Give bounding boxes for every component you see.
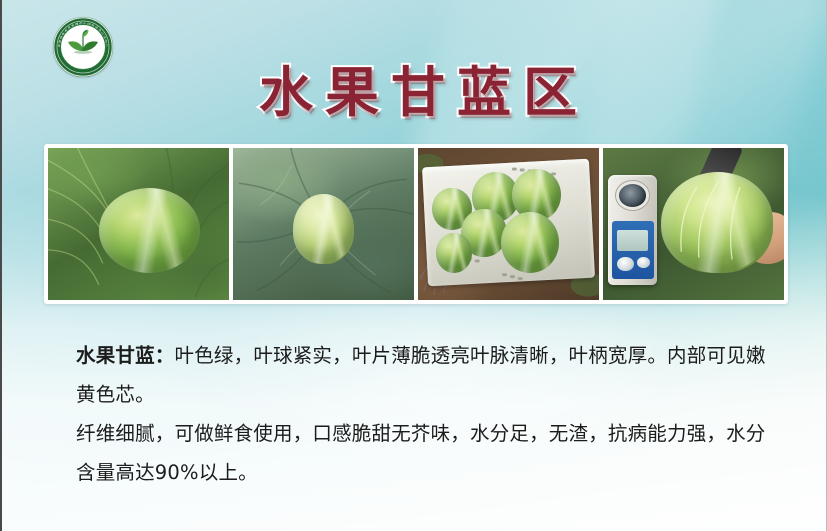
paragraph-1-text: 叶色绿，叶球紧实，叶片薄脆透亮叶脉清晰，叶柄宽厚。内部可见嫩黄色芯。 [76, 344, 766, 406]
sprout-icon [62, 24, 104, 66]
photo-cabbage-open-leaves: 展开外叶的水果甘蓝植株 [233, 148, 414, 300]
paragraph-1: 水果甘蓝：叶色绿，叶球紧实，叶片薄脆透亮叶脉清晰，叶柄宽厚。内部可见嫩黄色芯。 [76, 336, 766, 414]
certification-seal-logo: 中国绿色食品发展中心绿色食品认证中心 中国·绿色食品 [53, 17, 113, 77]
photo-brix-measurement: 手持糖度计测量水果甘蓝 [603, 148, 784, 300]
meter-start-button[interactable] [617, 257, 633, 271]
photo-gallery: 田间生长的水果甘蓝叶球特写 [44, 144, 788, 304]
photo-cabbage-in-field: 田间生长的水果甘蓝叶球特写 [48, 148, 229, 300]
meter-display [617, 230, 648, 251]
cabbage-head [99, 188, 200, 273]
inner-cabbage-head [293, 194, 355, 264]
photo-harvested-crate: 采收后装入白色塑料筐的水果甘蓝 [418, 148, 599, 300]
poster-root: 中国绿色食品发展中心绿色食品认证中心 中国·绿色食品 水果甘蓝区 [0, 0, 827, 531]
paragraph-1-lead: 水果甘蓝： [76, 344, 175, 367]
crate-cabbage-6 [436, 233, 472, 273]
crate-cabbage-5 [501, 212, 559, 273]
paragraph-2: 纤维细腻，可做鲜食使用，口感脆甜无芥味，水分足，无渣，抗病能力强，水分含量高达9… [76, 414, 766, 492]
page-title: 水果甘蓝区 [234, 57, 614, 129]
description-block: 水果甘蓝：叶色绿，叶球紧实，叶片薄脆透亮叶脉清晰，叶柄宽厚。内部可见嫩黄色芯。 … [76, 336, 766, 492]
